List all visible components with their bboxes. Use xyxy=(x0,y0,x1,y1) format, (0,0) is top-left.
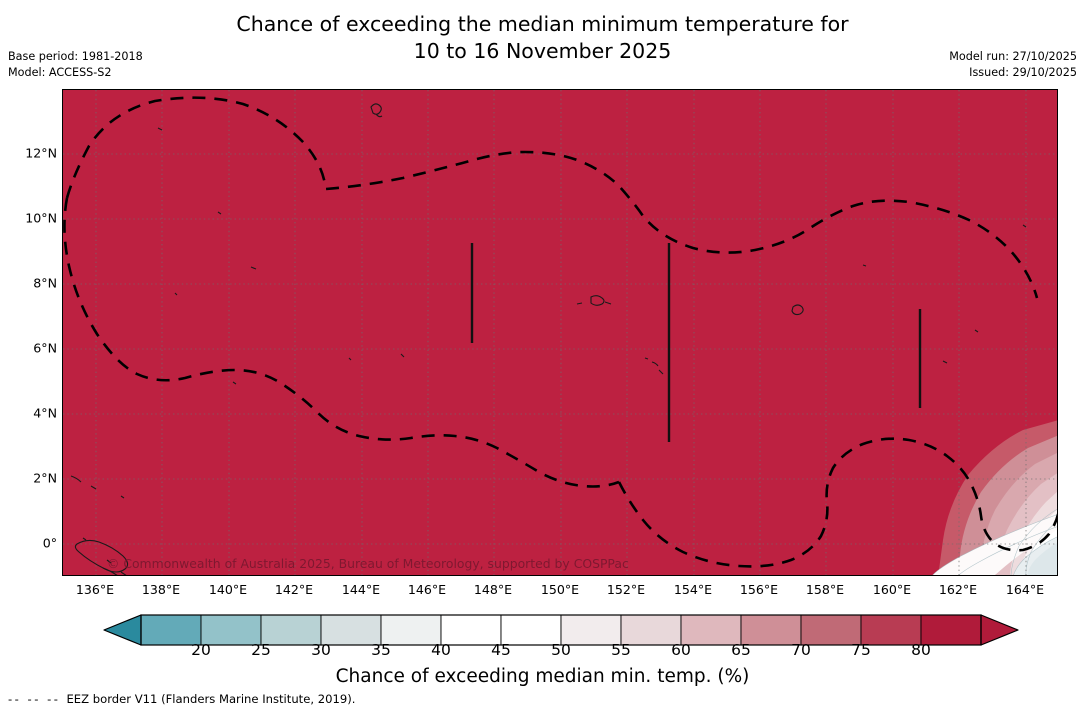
x-tick-158E: 158°E xyxy=(806,582,844,597)
x-tick-146E: 146°E xyxy=(408,582,446,597)
footer-text: EEZ border V11 (Flanders Marine Institut… xyxy=(66,692,355,706)
x-tick-162E: 162°E xyxy=(939,582,977,597)
metadata-right: Model run: 27/10/2025 Issued: 29/10/2025 xyxy=(949,49,1077,81)
x-tick-142E: 142°E xyxy=(275,582,313,597)
colorbar-tick-55: 55 xyxy=(611,641,631,659)
colorbar-over-arrow xyxy=(981,615,1018,645)
y-tick-12N: 12°N xyxy=(0,146,57,161)
colorbar-tick-35: 35 xyxy=(371,641,391,659)
copyright-notice: © Commonwealth of Australia 2025, Bureau… xyxy=(107,556,629,571)
footer-legend: -- -- -- EEZ border V11 (Flanders Marine… xyxy=(8,692,355,706)
colorbar-tick-20: 20 xyxy=(191,641,211,659)
colorbar-under-arrow xyxy=(104,615,141,645)
colorbar-tick-30: 30 xyxy=(311,641,331,659)
x-tick-154E: 154°E xyxy=(674,582,712,597)
issued-label: Issued: 29/10/2025 xyxy=(949,65,1077,81)
colorbar-tick-40: 40 xyxy=(431,641,451,659)
x-tick-156E: 156°E xyxy=(740,582,778,597)
y-tick-10N: 10°N xyxy=(0,211,57,226)
y-tick-8N: 8°N xyxy=(0,276,57,291)
x-tick-138E: 138°E xyxy=(142,582,180,597)
x-tick-150E: 150°E xyxy=(541,582,579,597)
colorbar-tick-75: 75 xyxy=(851,641,871,659)
x-tick-164E: 164°E xyxy=(1006,582,1044,597)
y-tick-6N: 6°N xyxy=(0,341,57,356)
colorbar-title: Chance of exceeding median min. temp. (%… xyxy=(0,666,1085,687)
forecast-map-plot[interactable]: © Commonwealth of Australia 2025, Bureau… xyxy=(62,89,1058,576)
y-tick-4N: 4°N xyxy=(0,406,57,421)
colorbar-tick-50: 50 xyxy=(551,641,571,659)
y-tick-0: 0° xyxy=(0,536,57,551)
forecast-map-page: Chance of exceeding the median minimum t… xyxy=(0,0,1085,713)
x-tick-140E: 140°E xyxy=(209,582,247,597)
map-svg xyxy=(63,90,1058,576)
x-tick-136E: 136°E xyxy=(76,582,114,597)
dashed-line-icon: -- -- -- xyxy=(8,692,60,706)
model-label: Model: ACCESS-S2 xyxy=(8,65,143,81)
x-tick-160E: 160°E xyxy=(873,582,911,597)
page-title: Chance of exceeding the median minimum t… xyxy=(0,11,1085,65)
colorbar-tick-60: 60 xyxy=(671,641,691,659)
y-tick-2N: 2°N xyxy=(0,471,57,486)
x-tick-148E: 148°E xyxy=(474,582,512,597)
base-period-label: Base period: 1981-2018 xyxy=(8,49,143,65)
x-tick-152E: 152°E xyxy=(607,582,645,597)
region-above-80 xyxy=(63,90,1058,576)
colorbar-tick-45: 45 xyxy=(491,641,511,659)
colorbar-tick-80: 80 xyxy=(911,641,931,659)
metadata-left: Base period: 1981-2018 Model: ACCESS-S2 xyxy=(8,49,143,81)
colorbar-tick-70: 70 xyxy=(791,641,811,659)
model-run-label: Model run: 27/10/2025 xyxy=(949,49,1077,65)
colorbar-tick-25: 25 xyxy=(251,641,271,659)
colorbar-tick-65: 65 xyxy=(731,641,751,659)
x-tick-144E: 144°E xyxy=(342,582,380,597)
